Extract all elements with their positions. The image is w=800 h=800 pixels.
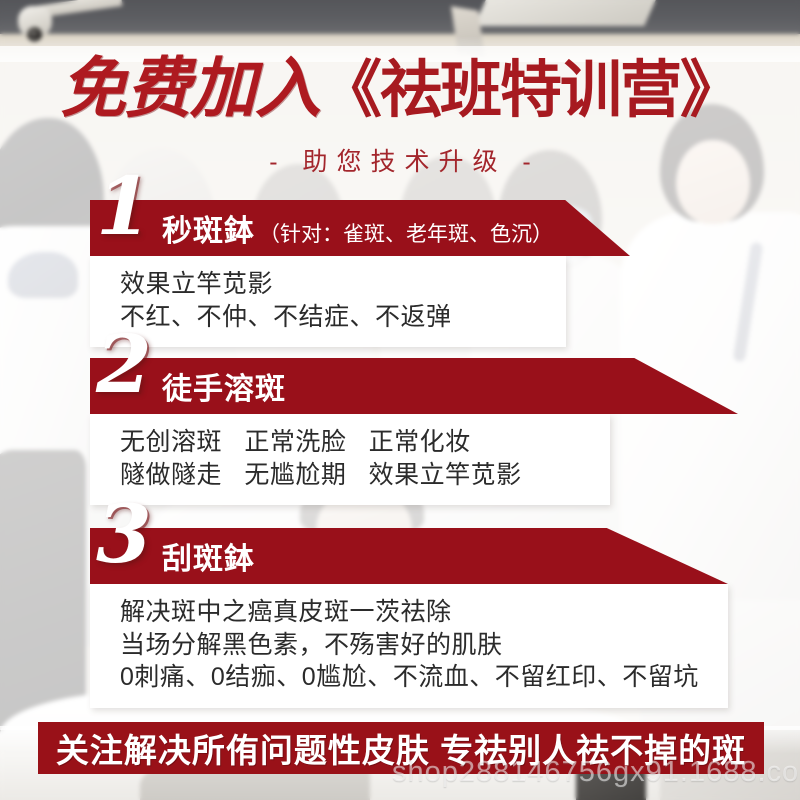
section-title-2: 徒手溶斑 [162,364,290,408]
section-title-text-2: 徒手溶斑 [162,373,286,406]
section-title-text-1: 秒斑鉢 [162,215,255,248]
section-body-line: 0刺痛、0结痂、0尴尬、不流血、不留红印、不留坑 [120,661,728,694]
poster-content: 免费加入《祛班特训营》 - 助您技术升级 - 1 秒斑鉢（针对：雀斑、老年斑、色… [0,0,800,800]
headline-main-text: 免费加入 [60,56,320,122]
headline-subtitle: - 助您技术升级 - [0,142,800,178]
feature-section-2: 2 徒手溶斑 无创溶斑 正常洗脸 正常化妆 隧做隧走 无尴尬期 效果立竿苋影 [90,358,738,505]
headline: 免费加入《祛班特训营》 [0,56,800,122]
section-title-1: 秒斑鉢（针对：雀斑、老年斑、色沉） [162,206,553,250]
section-body-line: 不红、不仲、不结症、不返弹 [120,301,566,334]
section-header-bar-2: 徒手溶斑 [90,358,738,414]
section-title-3: 刮斑鉢 [162,534,259,578]
section-body-1: 效果立竿苋影 不红、不仲、不结症、不返弹 [90,256,566,347]
feature-section-1: 1 秒斑鉢（针对：雀斑、老年斑、色沉） 效果立竿苋影 不红、不仲、不结症、不返弹 [90,200,630,347]
section-body-line: 解决斑中之癌真皮斑一茨祛除 [120,596,728,629]
section-body-line: 效果立竿苋影 [120,268,566,301]
section-header-bar-3: 刮斑鉢 [90,528,728,584]
section-body-2: 无创溶斑 正常洗脸 正常化妆 隧做隧走 无尴尬期 效果立竿苋影 [90,414,610,505]
section-title-text-3: 刮斑鉢 [162,543,255,576]
bottom-slogan-banner: 关注解决所侑问题性皮肤 专祛别人祛不掉的斑 [38,722,764,774]
section-header-bar-1: 秒斑鉢（针对：雀斑、老年斑、色沉） [90,200,630,256]
section-body-line: 当场分解黑色素，不殇害好的肌肤 [120,629,728,662]
section-body-3: 解决斑中之癌真皮斑一茨祛除 当场分解黑色素，不殇害好的肌肤 0刺痛、0结痂、0尴… [90,584,728,708]
section-body-line: 隧做隧走 无尴尬期 效果立竿苋影 [120,459,610,492]
headline-bracket-text: 《祛班特训营》 [320,59,740,121]
bottom-slogan-text: 关注解决所侑问题性皮肤 专祛别人祛不掉的斑 [56,724,746,772]
promo-poster: 免费加入《祛班特训营》 - 助您技术升级 - 1 秒斑鉢（针对：雀斑、老年斑、色… [0,0,800,800]
feature-section-3: 3 刮斑鉢 解决斑中之癌真皮斑一茨祛除 当场分解黑色素，不殇害好的肌肤 0刺痛、… [90,528,728,708]
section-title-note-1: （针对：雀斑、老年斑、色沉） [259,223,553,246]
section-body-line: 无创溶斑 正常洗脸 正常化妆 [120,426,610,459]
